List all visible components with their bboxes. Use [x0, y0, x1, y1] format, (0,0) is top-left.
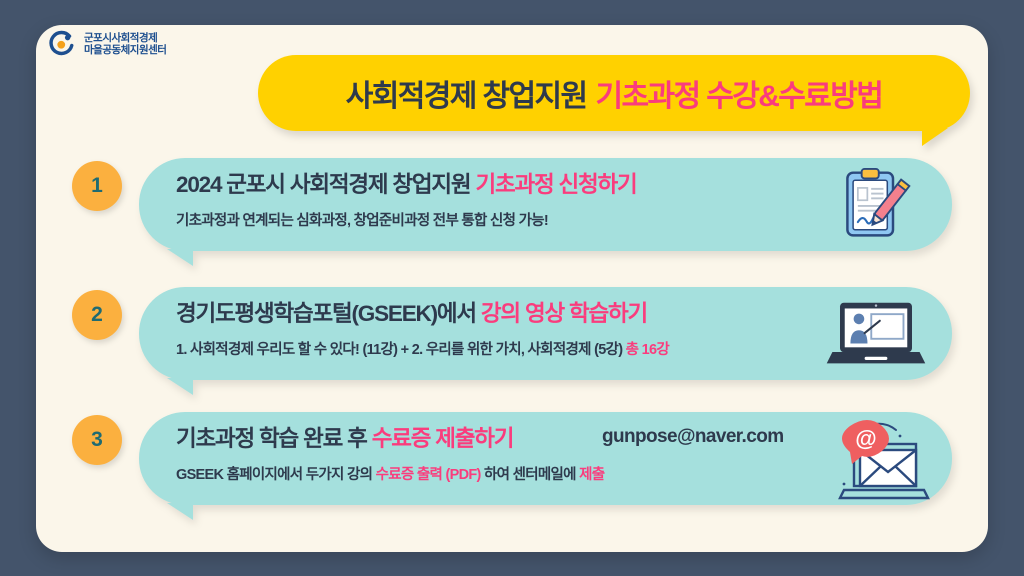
contact-email[interactable]: gunpose@naver.com: [602, 426, 784, 448]
step-row-2: 2 경기도평생학습포털(GSEEK)에서 강의 영상 학습하기 1. 사회적경제…: [72, 287, 952, 380]
email-at-laptop-icon: @: [826, 418, 930, 502]
step-heading-pink-2: 강의 영상 학습하기: [481, 301, 647, 326]
step-number-badge-2: 2: [72, 290, 122, 340]
speech-tail-icon: [167, 503, 193, 520]
step-subtext-2: 1. 사회적경제 우리도 할 수 있다! (11강) + 2. 우리를 위한 가…: [176, 338, 876, 359]
step-subtext-3: GSEEK 홈페이지에서 두가지 강의 수료증 출력 (PDF) 하여 센터메일…: [176, 463, 876, 484]
step-heading-1: 2024 군포시 사회적경제 창업지원 기초과정 신청하기: [176, 170, 876, 200]
step-text-1: 2024 군포시 사회적경제 창업지원 기초과정 신청하기 기초과정과 연계되는…: [176, 170, 876, 230]
circle-dot-logo-icon: [47, 29, 77, 59]
step-heading-dark-3: 기초과정 학습 완료 후: [176, 426, 367, 451]
title-pink-part: 기초과정 수강&수료방법: [595, 71, 882, 115]
step-subtext-part: 기초과정과 연계되는 심화과정, 창업준비과정 전부 통합 신청 가능!: [176, 213, 548, 229]
step-number-badge-1: 1: [72, 161, 122, 211]
step-heading-pink-1: 기초과정 신청하기: [475, 172, 636, 197]
step-heading-pink-3: 수료증 제출하기: [372, 426, 514, 451]
step-subtext-highlight: 총 16강: [626, 342, 669, 358]
clipboard-pencil-icon: [826, 167, 922, 243]
logo-text: 군포시사회적경제 마을공동체지원센터: [84, 32, 166, 57]
speech-tail-icon: [167, 378, 193, 395]
step-subtext-highlight: 제출: [579, 467, 604, 483]
step-text-2: 경기도평생학습포털(GSEEK)에서 강의 영상 학습하기 1. 사회적경제 우…: [176, 299, 876, 359]
poster-card: 군포시사회적경제 마을공동체지원센터 사회적경제 창업지원 기초과정 수강&수료…: [36, 25, 988, 552]
speech-tail-icon: [167, 249, 193, 266]
title-banner: 사회적경제 창업지원 기초과정 수강&수료방법: [258, 55, 970, 131]
step-row-3: 3 기초과정 학습 완료 후 수료증 제출하기 GSEEK 홈페이지에서 두가지…: [72, 412, 952, 505]
logo-line-1: 군포시사회적경제: [84, 32, 166, 44]
step-heading-dark-2: 경기도평생학습포털(GSEEK)에서: [176, 301, 476, 326]
step-subtext-1: 기초과정과 연계되는 심화과정, 창업준비과정 전부 통합 신청 가능!: [176, 209, 876, 230]
step-heading-2: 경기도평생학습포털(GSEEK)에서 강의 영상 학습하기: [176, 299, 876, 329]
step-subtext-part: GSEEK 홈페이지에서 두가지 강의: [176, 467, 372, 483]
step-subtext-highlight: 수료증 출력 (PDF): [376, 467, 481, 483]
speech-tail-icon: [922, 128, 948, 146]
step-heading-dark-1: 2024 군포시 사회적경제 창업지원: [176, 172, 470, 197]
logo-line-2: 마을공동체지원센터: [84, 44, 166, 56]
step-row-1: 1 2024 군포시 사회적경제 창업지원 기초과정 신청하기 기초과정과 연계…: [72, 158, 952, 251]
laptop-presenter-icon: [824, 299, 928, 375]
organization-logo: 군포시사회적경제 마을공동체지원센터: [47, 29, 166, 59]
step-number-badge-3: 3: [72, 415, 122, 465]
title-dark-part: 사회적경제 창업지원: [346, 71, 587, 115]
step-subtext-part: 1. 사회적경제 우리도 할 수 있다! (11강) + 2. 우리를 위한 가…: [176, 342, 622, 358]
step-subtext-part: 하여 센터메일에: [484, 467, 576, 483]
svg-text:@: @: [855, 426, 876, 451]
